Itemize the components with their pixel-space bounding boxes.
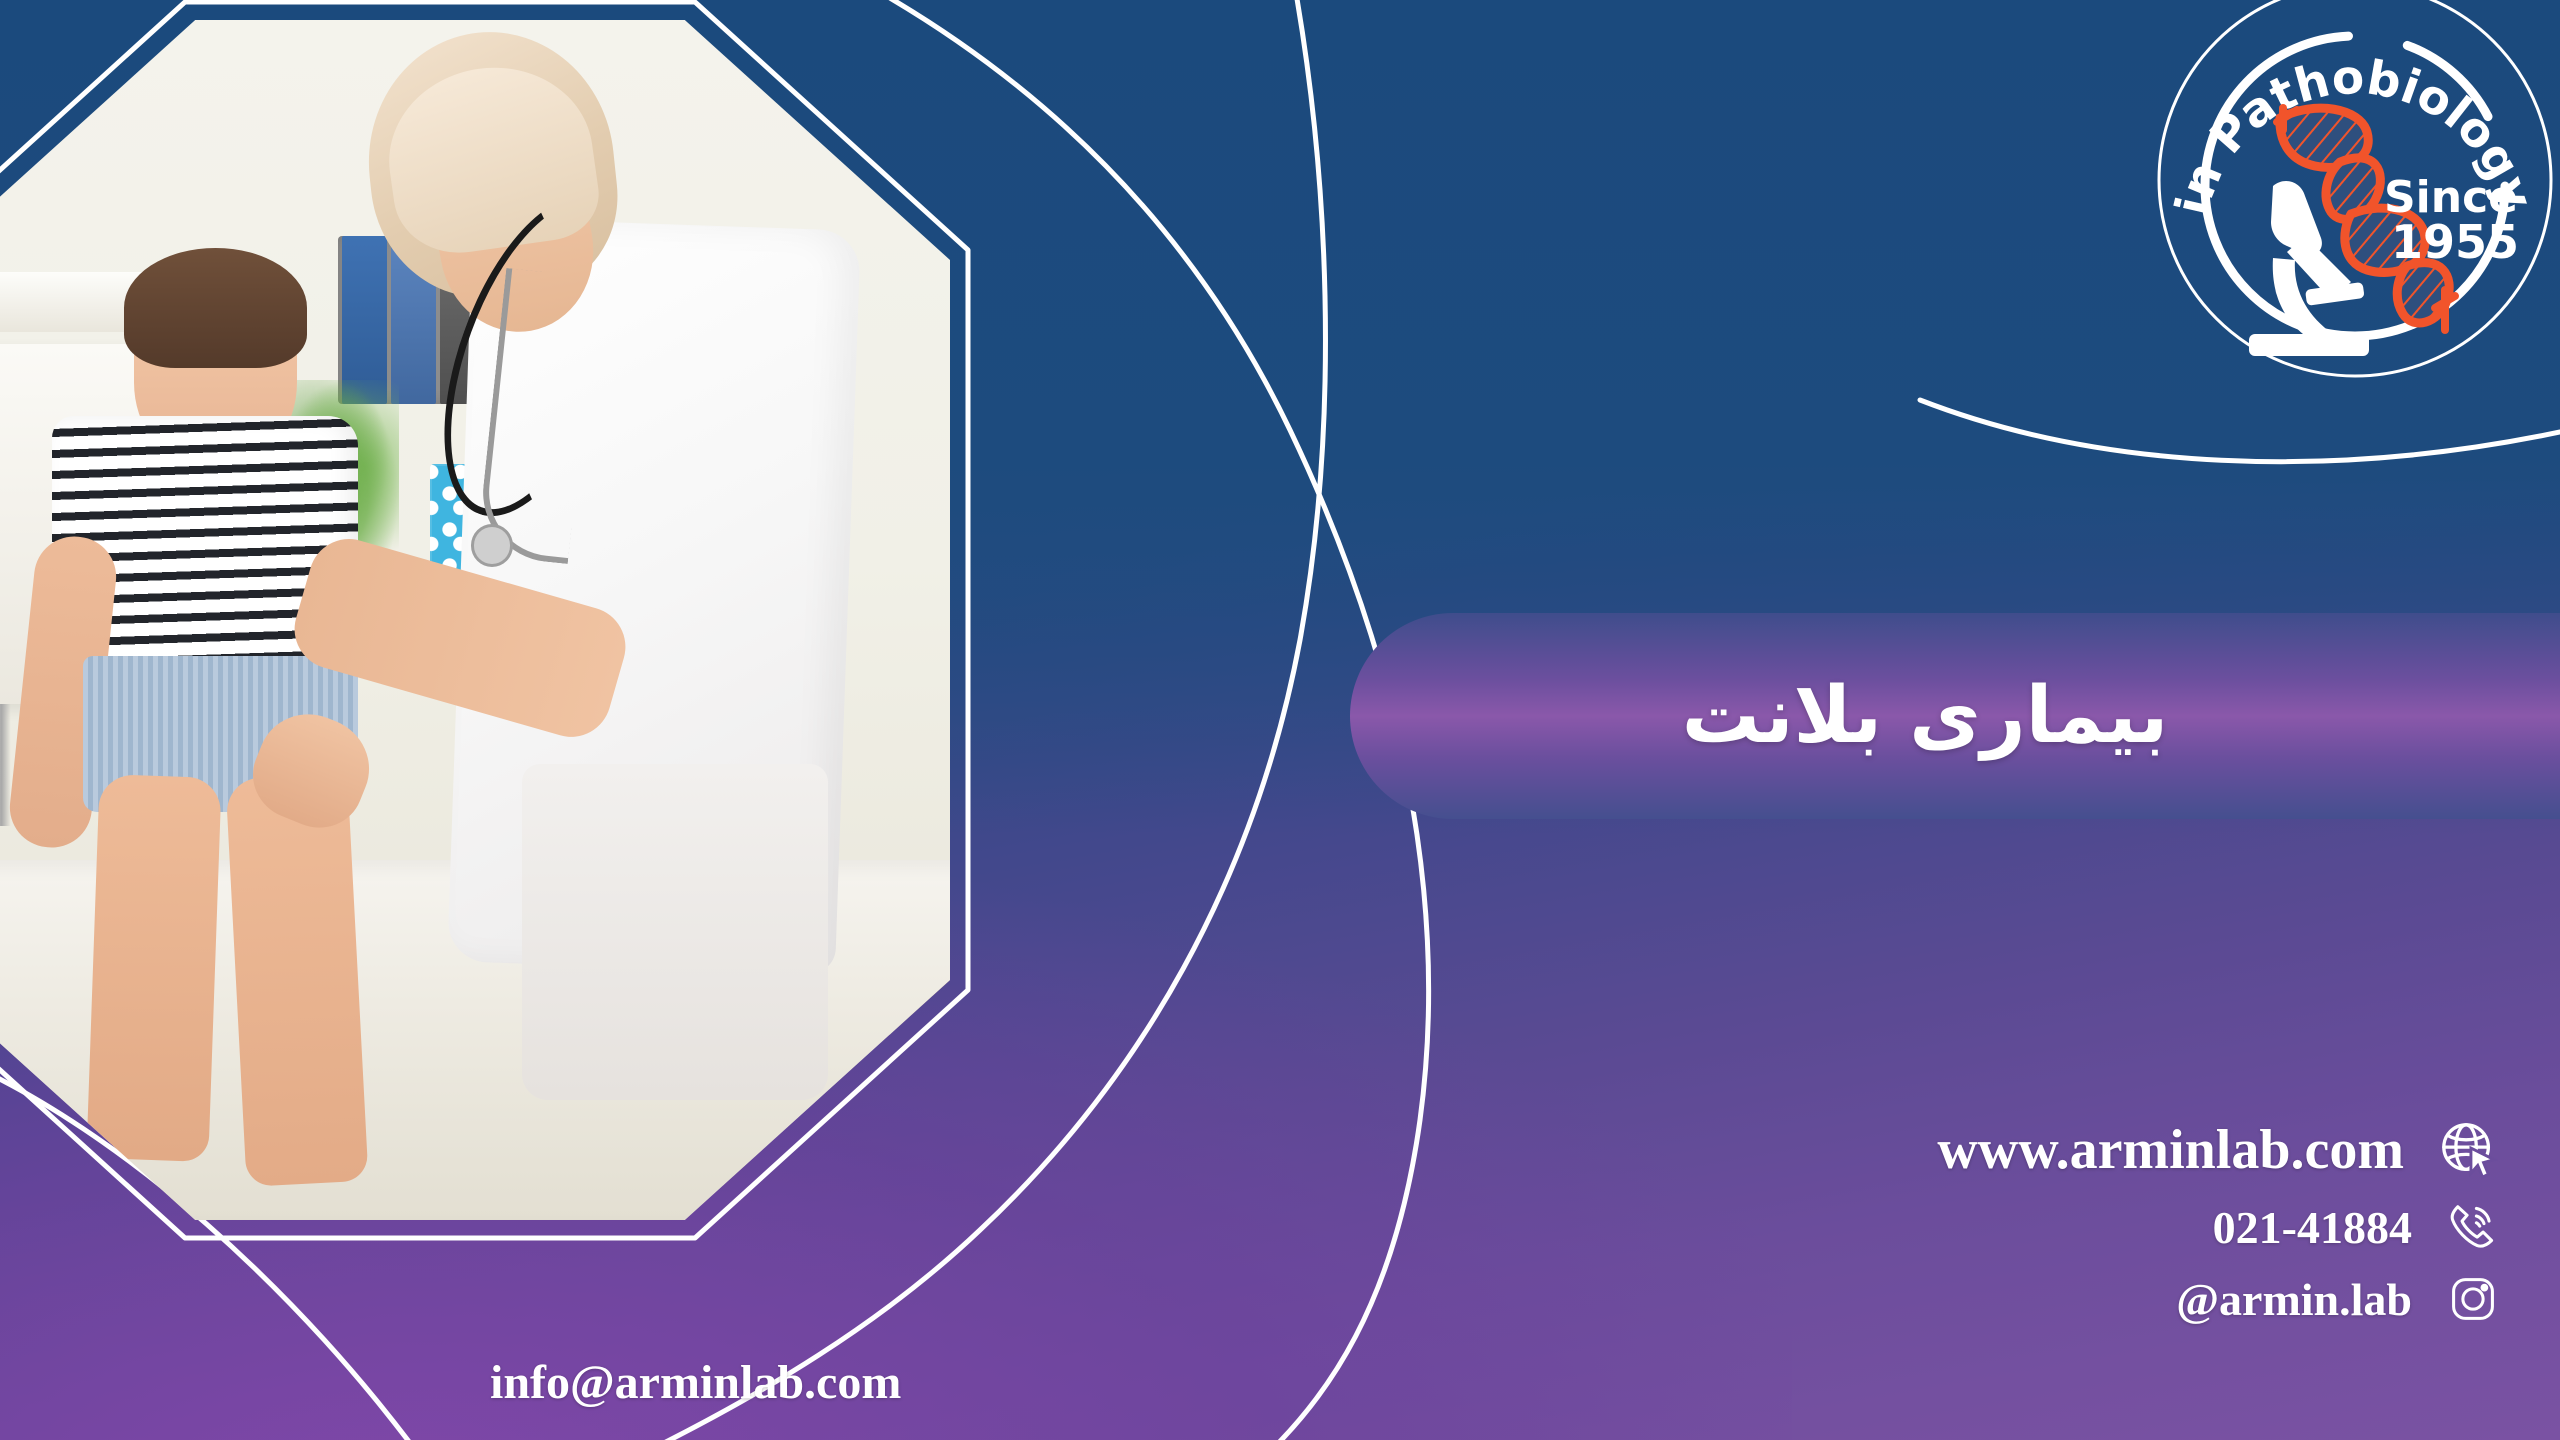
photo-child-hair: [124, 248, 308, 368]
website-label[interactable]: www.arminlab.com: [1937, 1118, 2404, 1182]
photo-child-leg-left: [87, 774, 223, 1162]
contact-row-instagram[interactable]: @armin.lab: [1640, 1272, 2500, 1326]
photo-binder: [342, 236, 387, 404]
phone-label[interactable]: 021-41884: [2213, 1201, 2412, 1254]
instagram-label[interactable]: @armin.lab: [2176, 1273, 2412, 1326]
instagram-icon[interactable]: [2446, 1272, 2500, 1326]
clinic-photo: [0, 20, 950, 1220]
photo-child-leg-right: [225, 773, 369, 1187]
banner-canvas: بیماری بلانت Armin Pathobiology Lab: [0, 0, 2560, 1440]
title-banner: بیماری بلانت: [1350, 613, 2560, 819]
contact-block: www.arminlab.com 021-41884: [1640, 1118, 2500, 1344]
contact-row-website[interactable]: www.arminlab.com: [1640, 1118, 2500, 1182]
page-title: بیماری بلانت: [1682, 671, 2229, 761]
contact-row-phone[interactable]: 021-41884: [1640, 1200, 2500, 1254]
globe-cursor-icon[interactable]: [2438, 1119, 2500, 1181]
logo-since-year: 1955: [2391, 215, 2519, 269]
photo-clip-mask: [0, 20, 950, 1220]
email-label[interactable]: info@arminlab.com: [490, 1355, 901, 1410]
brand-logo[interactable]: Armin Pathobiology Lab Since 1955: [2155, 0, 2555, 390]
phone-call-icon[interactable]: [2446, 1200, 2500, 1254]
photo-doctor-pants: [522, 764, 828, 1100]
hero-photo-panel: [0, 20, 950, 1220]
